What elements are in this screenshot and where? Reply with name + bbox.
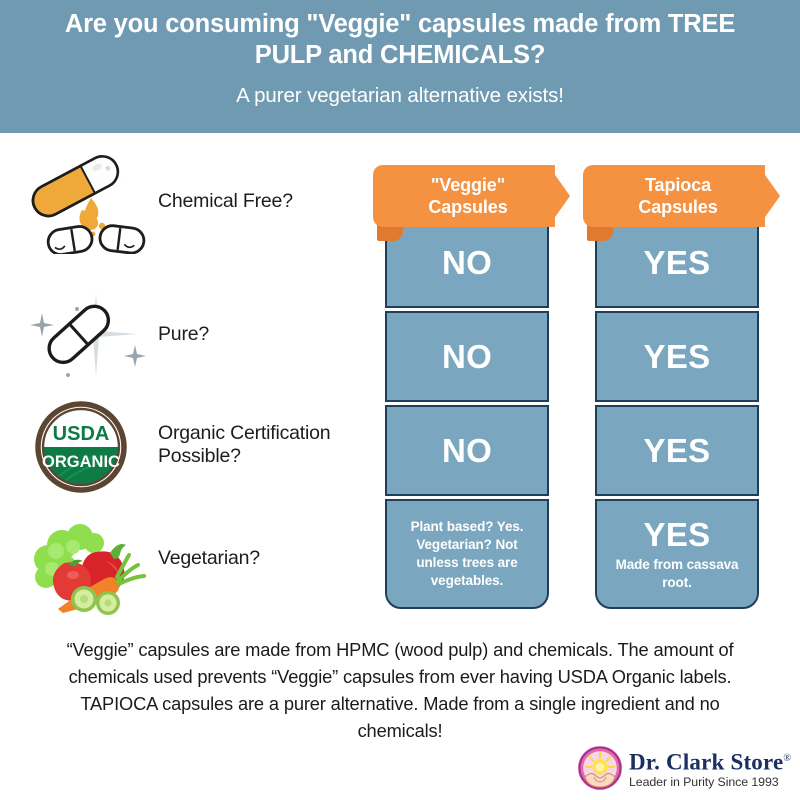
answer-text: YES [644, 339, 711, 375]
brand-logo[interactable]: Dr. Clark Store® Leader in Purity Since … [578, 744, 788, 792]
answer-text: YES [644, 517, 711, 553]
answer-note: Made from cassava root. [597, 556, 757, 592]
answer-text: YES [644, 433, 711, 469]
cell-tapioca-chemical-free: YES [595, 217, 759, 308]
cell-tapioca-pure: YES [595, 311, 759, 402]
ribbon-label-line1: Tapioca [638, 174, 717, 196]
cell-tapioca-organic-certification: YES [595, 405, 759, 496]
feature-label-pure: Pure? [154, 323, 209, 347]
cell-veggie-vegetarian: Plant based? Yes. Vegetarian? Not unless… [385, 499, 549, 609]
ribbon-body: Tapioca Capsules [583, 165, 765, 227]
page-title: Are you consuming "Veggie" capsules made… [0, 9, 800, 71]
answer-note: Plant based? Yes. Vegetarian? Not unless… [387, 518, 547, 590]
logo-tagline: Leader in Purity Since 1993 [629, 774, 791, 790]
footer-explanation-paragraph: “Veggie” capsules are made from HPMC (wo… [38, 636, 762, 744]
feature-row-organic-certification: USDA ORGANIC Organic Certification Possi… [18, 395, 378, 495]
ribbon-label-veggie: "Veggie" Capsules [420, 174, 507, 218]
column-tapioca-capsules: YES YES YES YES Made from cassava root. [595, 217, 759, 609]
feature-row-chemical-free: Chemical Free? [18, 147, 378, 257]
ribbon-label-line2: Capsules [428, 196, 507, 218]
sparkling-capsule-icon [18, 287, 154, 383]
column-header-ribbon-veggie: "Veggie" Capsules [373, 165, 555, 227]
sunrise-in-hands-logo-icon [578, 746, 622, 790]
cell-veggie-pure: NO [385, 311, 549, 402]
feature-label-organic-certification: Organic Certification Possible? [154, 422, 378, 469]
column-header-ribbon-tapioca: Tapioca Capsules [583, 165, 765, 227]
cell-tapioca-vegetarian: YES Made from cassava root. [595, 499, 759, 609]
logo-brand-name-text: Dr. Clark Store [629, 749, 783, 774]
feature-row-pure: Pure? [18, 287, 378, 383]
comparison-section: Chemical Free? Pure? [0, 133, 800, 625]
ribbon-label-tapioca: Tapioca Capsules [630, 174, 717, 218]
logo-brand-name: Dr. Clark Store® [629, 746, 791, 775]
usda-seal-top-text: USDA [53, 423, 110, 445]
feature-label-vegetarian: Vegetarian? [154, 547, 260, 571]
ribbon-label-line1: "Veggie" [428, 174, 507, 196]
test-tube-pouring-powder-into-capsules-icon [18, 154, 154, 250]
fresh-vegetables-icon [18, 511, 154, 607]
feature-row-vegetarian: Vegetarian? [18, 505, 378, 613]
answer-text: YES [644, 245, 711, 281]
answer-text: NO [442, 339, 492, 375]
feature-label-chemical-free: Chemical Free? [154, 190, 293, 214]
page-subtitle: A purer vegetarian alternative exists! [0, 83, 800, 109]
ribbon-label-line2: Capsules [638, 196, 717, 218]
cell-veggie-chemical-free: NO [385, 217, 549, 308]
registered-trademark-icon: ® [783, 753, 791, 764]
usda-organic-seal-icon: USDA ORGANIC [18, 397, 154, 493]
usda-seal-bottom-text: ORGANIC [42, 453, 120, 471]
cell-veggie-organic-certification: NO [385, 405, 549, 496]
answer-text: NO [442, 245, 492, 281]
ribbon-body: "Veggie" Capsules [373, 165, 555, 227]
answer-text: NO [442, 433, 492, 469]
column-veggie-capsules: NO NO NO Plant based? Yes. Vegetarian? N… [385, 217, 549, 609]
header-banner: Are you consuming "Veggie" capsules made… [0, 0, 800, 133]
logo-text: Dr. Clark Store® Leader in Purity Since … [622, 746, 791, 791]
